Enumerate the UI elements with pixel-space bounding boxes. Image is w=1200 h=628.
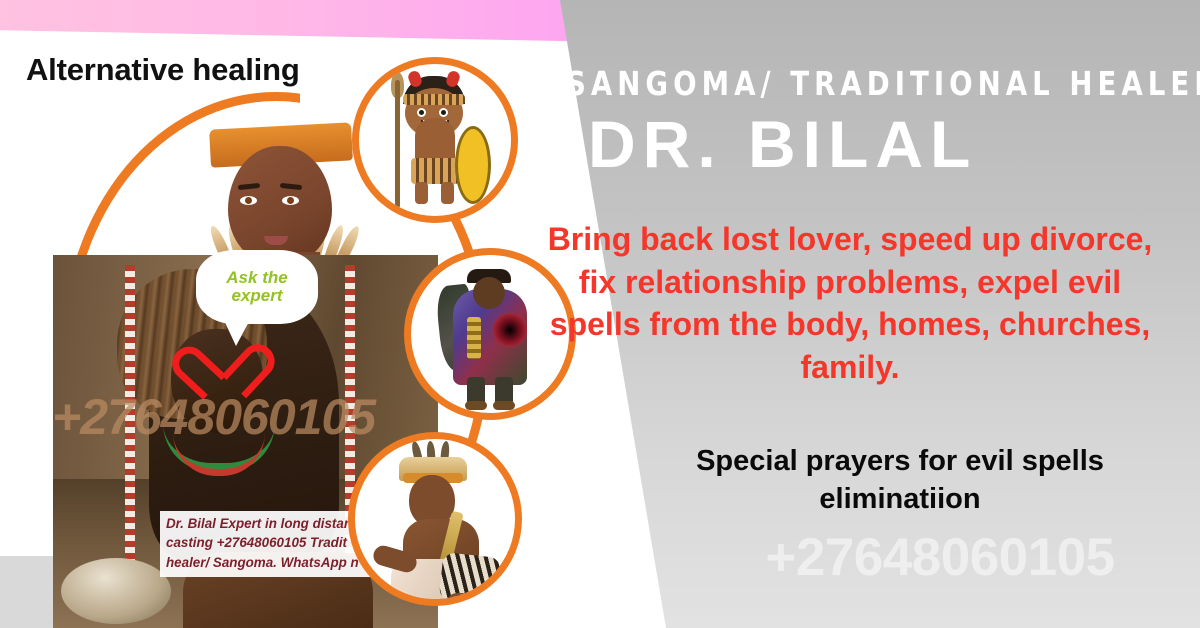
badge-zulu-warrior: [352, 57, 518, 223]
healer-name: DR. BILAL: [588, 106, 1188, 182]
bubble-line-2: expert: [231, 286, 282, 305]
bubble-line-1: Ask the: [226, 268, 287, 287]
kicker-text: SANGOMA/ TRADITIONAL HEALER: [566, 64, 1135, 103]
services-text: Bring back lost lover, speed up divorce,…: [540, 218, 1160, 388]
top-pink-strip: [0, 0, 602, 42]
poster-canvas: Alternative healing: [0, 0, 1200, 628]
page-title: Alternative healing: [26, 52, 300, 88]
photo-watermark-phone: +27648060105: [52, 388, 375, 446]
badge-crouching-sangoma: [348, 432, 522, 606]
special-prayers-text: Special prayers for evil spells eliminat…: [620, 443, 1180, 518]
right-watermark-phone: +27648060105: [680, 527, 1200, 588]
ask-the-expert-bubble: Ask the expert: [196, 250, 318, 324]
